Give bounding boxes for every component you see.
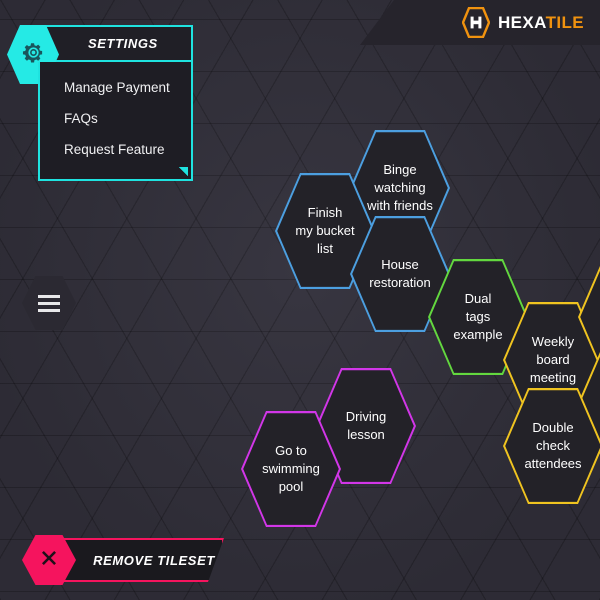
remove-tileset-label: REMOVE TILESET [93, 553, 215, 568]
hex-tile[interactable]: Double check attendees [503, 388, 600, 504]
hex-tile[interactable]: Go to swimming pool [241, 411, 341, 527]
hex-tile-label: Double check attendees [503, 388, 600, 504]
app-logo-text: HEXATILE [498, 13, 584, 33]
close-x-icon [37, 546, 61, 575]
settings-title: SETTINGS [88, 36, 158, 51]
hamburger-bar [38, 295, 60, 298]
hex-tile-label: Go to swimming pool [241, 411, 341, 527]
remove-tileset-button[interactable]: REMOVE TILESET [22, 538, 224, 582]
hamburger-bar [38, 302, 60, 305]
hamburger-bar [38, 309, 60, 312]
logo-main: HEXA [498, 13, 546, 32]
settings-header: SETTINGS [38, 25, 193, 62]
panel-resize-handle[interactable] [179, 167, 188, 176]
menu-item-manage-payment[interactable]: Manage Payment [40, 72, 191, 103]
remove-tileset-bar: REMOVE TILESET [62, 538, 224, 582]
settings-panel: SETTINGS Manage Payment FAQs Request Fea… [38, 25, 193, 181]
menu-item-faqs[interactable]: FAQs [40, 103, 191, 134]
menu-item-request-feature[interactable]: Request Feature [40, 134, 191, 165]
settings-menu: Manage Payment FAQs Request Feature [38, 62, 193, 181]
logo-accent: TILE [546, 13, 584, 32]
hexagon-h-icon [462, 7, 490, 38]
header-banner: HEXATILE [360, 0, 600, 45]
